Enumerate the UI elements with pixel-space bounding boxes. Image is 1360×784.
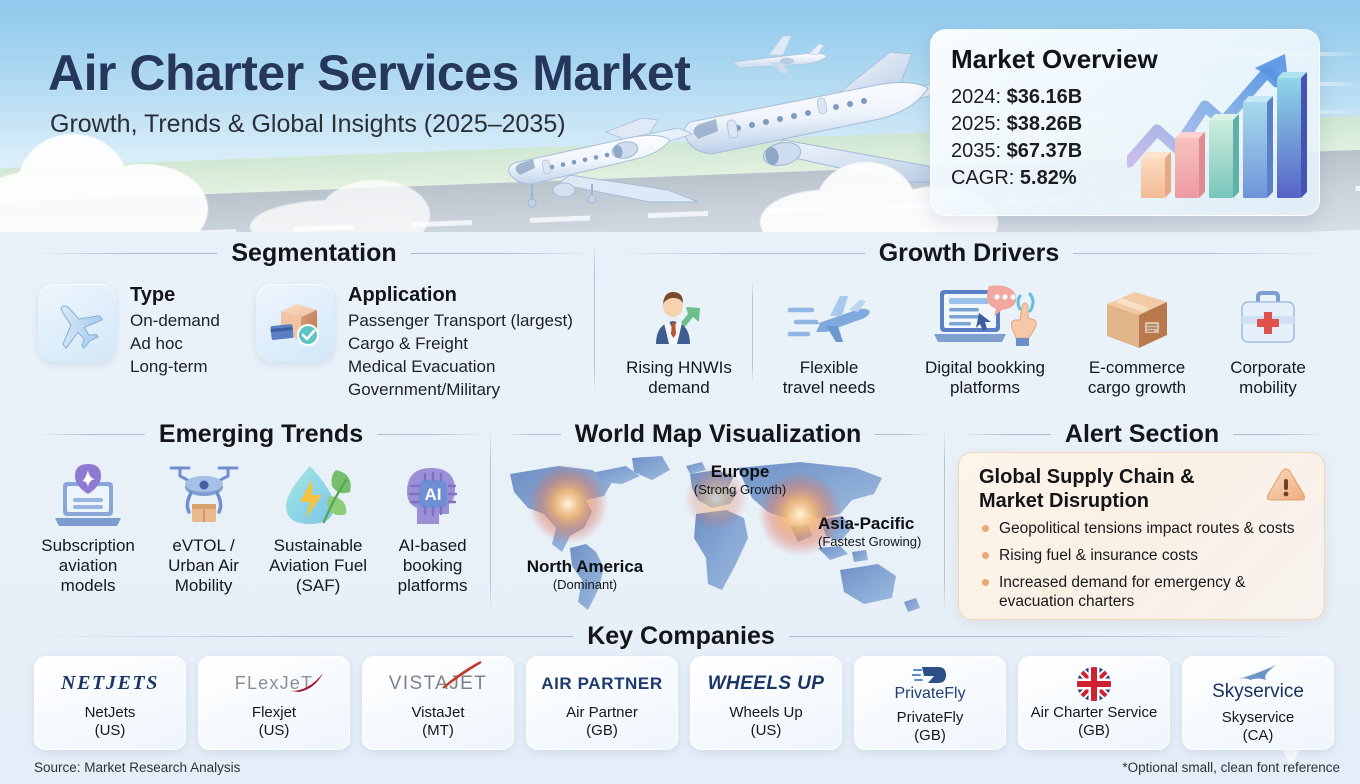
skyservice-logo: Skyservice [1212, 662, 1304, 706]
caption-line: Digital bookking [925, 358, 1045, 377]
alert-bullet-list: Geopolitical tensions impact routes & co… [979, 519, 1309, 619]
list-item: Medical Evacuation [348, 355, 573, 378]
caption-line: models [61, 576, 116, 595]
market-overview-rows: 2024: $36.16B 2025: $38.26B 2035: $67.37… [951, 84, 1082, 192]
growth-driver-caption: Digital bookking platforms [925, 358, 1045, 398]
caption-line: Sustainable [274, 536, 363, 555]
company-card-air-charter-service[interactable]: Air Charter Service (GB) [1018, 656, 1170, 750]
company-country: (US) [95, 722, 126, 740]
section-header-growth-drivers: Growth Drivers [612, 239, 1326, 268]
company-card-privatefly[interactable]: PrivateFly PrivateFly (GB) [854, 656, 1006, 750]
region-note: (Strong Growth) [650, 482, 830, 497]
caption-line: aviation [59, 556, 118, 575]
caption-line: Urban Air [168, 556, 239, 575]
uk-flag-icon [1076, 667, 1112, 701]
caption-line: demand [648, 378, 709, 397]
market-overview-row: 2024: $36.16B [951, 84, 1082, 111]
company-name: PrivateFly [897, 709, 964, 727]
caption-line: platforms [398, 576, 468, 595]
company-name: NetJets [85, 704, 136, 722]
list-item: Passenger Transport (largest) [348, 309, 573, 332]
list-item: Ad hoc [130, 332, 220, 355]
alert-bullet: Geopolitical tensions impact routes & co… [979, 519, 1309, 538]
alert-bullet: Increased demand for emergency & evacuat… [979, 573, 1309, 611]
alert-card: Global Supply Chain & Market Disruption … [958, 452, 1325, 620]
row-label: 2024: [951, 86, 1001, 108]
section-header-segmentation: Segmentation [34, 239, 594, 268]
company-card-air-partner[interactable]: AIR PARTNER Air Partner (GB) [526, 656, 678, 750]
list-item: Government/Military [348, 378, 573, 401]
segmentation-heading: Type [130, 284, 220, 307]
divider-line [958, 434, 1051, 435]
growth-drivers-row: Rising HNWIs demand [606, 280, 1326, 398]
divider-line [36, 434, 145, 435]
flexjet-swoosh-icon [289, 671, 325, 693]
emerging-trend-caption: Subscription aviation models [41, 536, 135, 596]
package-card-check-icon [256, 284, 334, 362]
divider-line [1073, 253, 1326, 254]
row-label: 2025: [951, 113, 1001, 135]
divider-line [1233, 434, 1326, 435]
page-title: Air Charter Services Market [48, 44, 690, 102]
company-country: (MT) [422, 722, 454, 740]
caption-line: booking [403, 556, 463, 575]
skyservice-bird-icon [1236, 665, 1280, 681]
section-title: World Map Visualization [575, 420, 862, 449]
airplane-icon [38, 284, 116, 362]
caption-line: (SAF) [296, 576, 340, 595]
caption-line: eVTOL / [172, 536, 234, 555]
map-label-north-america: North America (Dominant) [495, 557, 675, 592]
company-name: Skyservice [1222, 709, 1295, 727]
logo-text: Skyservice [1212, 681, 1304, 703]
region-name: Europe [650, 462, 830, 482]
company-card-vistajet[interactable]: VISTAJET VistaJet (MT) [362, 656, 514, 750]
divider-line [34, 253, 217, 254]
emerging-trend-item: Subscription aviation models [28, 458, 148, 596]
company-country: (US) [259, 722, 290, 740]
growth-driver-item: Flexible travel needs [752, 280, 906, 398]
flexjet-logo: FLexJeT [235, 667, 313, 701]
company-country: (GB) [914, 727, 946, 745]
company-country: (US) [751, 722, 782, 740]
caption-line: travel needs [783, 378, 876, 397]
company-country: (GB) [1078, 722, 1110, 740]
company-card-flexjet[interactable]: FLexJeT Flexjet (US) [198, 656, 350, 750]
segmentation-list: On-demand Ad hoc Long-term [130, 309, 220, 378]
growth-driver-caption: Rising HNWIs demand [626, 358, 732, 398]
netjets-logo: NETJETS [61, 667, 159, 701]
alert-heading-line2: Market Disruption [979, 490, 1149, 512]
laptop-subscription-icon [51, 458, 125, 530]
list-item: Cargo & Freight [348, 332, 573, 355]
laptop-booking-icon [932, 280, 1038, 352]
row-label: 2035: [951, 140, 1001, 162]
company-name: Wheels Up [729, 704, 802, 722]
caption-line: AI-based [399, 536, 467, 555]
fast-plane-icon [786, 280, 872, 352]
caption-line: cargo growth [1088, 378, 1186, 397]
growth-driver-item: Digital bookking platforms [906, 280, 1064, 398]
warning-triangle-icon [1266, 467, 1306, 503]
cardboard-box-icon [1101, 280, 1173, 352]
row-label: CAGR: [951, 167, 1014, 189]
company-country: (CA) [1243, 727, 1274, 745]
row-value: 5.82% [1020, 167, 1077, 189]
segmentation-group-type: Type On-demand Ad hoc Long-term [38, 284, 220, 378]
market-overview-row: CAGR: 5.82% [951, 165, 1082, 192]
privatefly-wing-icon [912, 665, 948, 685]
alert-bullet: Rising fuel & insurance costs [979, 546, 1309, 565]
logo-text: PrivateFly [894, 685, 965, 703]
emerging-trend-item: AI AI-based booking platforms [377, 458, 488, 596]
section-header-emerging-trends: Emerging Trends [36, 420, 486, 449]
key-companies-row: NETJETS NetJets (US) FLexJeT Flexjet (US… [34, 656, 1334, 750]
growth-driver-item: Corporate mobility [1210, 280, 1326, 398]
infographic-page: Air Charter Services Market Growth, Tren… [0, 0, 1360, 784]
alert-heading-line1: Global Supply Chain & [979, 466, 1195, 488]
row-value: $67.37B [1007, 140, 1083, 162]
section-title: Growth Drivers [879, 239, 1060, 268]
section-header-world-map: World Map Visualization [506, 420, 930, 449]
caption-line: Rising HNWIs [626, 358, 732, 377]
row-value: $38.26B [1007, 113, 1083, 135]
region-note: (Dominant) [495, 577, 675, 592]
section-title: Segmentation [231, 239, 396, 268]
region-name: North America [495, 557, 675, 577]
section-title: Emerging Trends [159, 420, 363, 449]
emerging-trend-item: eVTOL / Urban Air Mobility [148, 458, 259, 596]
caption-line: Flexible [800, 358, 859, 377]
emerging-trend-item: Sustainable Aviation Fuel (SAF) [259, 458, 377, 596]
segmentation-heading: Application [348, 284, 573, 307]
divider-line [506, 434, 561, 435]
logo-text: AIR PARTNER [541, 674, 663, 694]
company-card-wheels-up[interactable]: WHEELS UP Wheels Up (US) [690, 656, 842, 750]
company-name: Air Charter Service [1031, 704, 1158, 722]
list-item: On-demand [130, 309, 220, 332]
company-name: Air Partner [566, 704, 638, 722]
market-overview-card: Market Overview 2024: $36.16B 2025: $38.… [930, 29, 1320, 216]
airpartner-logo: AIR PARTNER [541, 667, 663, 701]
privatefly-logo: PrivateFly [894, 662, 965, 706]
medical-briefcase-icon [1236, 280, 1300, 352]
caption-line: platforms [950, 378, 1020, 397]
section-title: Alert Section [1065, 420, 1219, 449]
divider-line [411, 253, 594, 254]
segmentation-type-text: Type On-demand Ad hoc Long-term [130, 284, 220, 378]
vertical-divider [490, 428, 491, 614]
emerging-trend-caption: AI-based booking platforms [398, 536, 468, 596]
divider-line [377, 434, 486, 435]
divider-line [875, 434, 930, 435]
growth-driver-item: E-commerce cargo growth [1064, 280, 1210, 398]
section-title: Key Companies [587, 622, 775, 651]
divider-line [612, 253, 865, 254]
growth-driver-caption: Flexible travel needs [783, 358, 876, 398]
divider-line [36, 636, 573, 637]
caption-line: E-commerce [1089, 358, 1185, 377]
ai-head-chip-icon: AI [397, 458, 469, 530]
map-label-europe: Europe (Strong Growth) [650, 462, 830, 497]
market-overview-row: 2035: $67.37B [951, 138, 1082, 165]
caption-line: Corporate [1230, 358, 1306, 377]
company-country: (GB) [586, 722, 618, 740]
logo-text: NETJETS [61, 672, 159, 695]
section-header-key-companies: Key Companies [36, 622, 1326, 651]
company-name: Flexjet [252, 704, 296, 722]
svg-text:AI: AI [424, 485, 441, 504]
growth-bar-chart-graphic [1127, 46, 1307, 206]
company-name: VistaJet [411, 704, 464, 722]
vistajet-logo: VISTAJET [389, 667, 487, 701]
caption-line: Aviation Fuel [269, 556, 367, 575]
segmentation-list: Passenger Transport (largest) Cargo & Fr… [348, 309, 573, 401]
font-reference-footnote: *Optional small, clean font reference [1122, 760, 1340, 775]
caption-line: mobility [1239, 378, 1297, 397]
green-fuel-drop-icon [280, 458, 356, 530]
wheelsup-logo: WHEELS UP [708, 667, 825, 701]
alert-heading: Global Supply Chain & Market Disruption [979, 465, 1229, 513]
row-value: $36.16B [1007, 86, 1083, 108]
businessman-growth-icon [644, 280, 714, 352]
section-header-alert: Alert Section [958, 420, 1326, 449]
vertical-divider [594, 245, 595, 393]
logo-text: WHEELS UP [708, 673, 825, 695]
market-overview-row: 2025: $38.26B [951, 111, 1082, 138]
source-footnote: Source: Market Research Analysis [34, 760, 240, 775]
world-map: North America (Dominant) Europe (Strong … [500, 452, 930, 622]
vistajet-swoosh-icon [437, 661, 483, 691]
caption-line: Mobility [175, 576, 233, 595]
growth-driver-caption: Corporate mobility [1230, 358, 1306, 398]
growth-driver-caption: E-commerce cargo growth [1088, 358, 1186, 398]
page-subtitle: Growth, Trends & Global Insights (2025–2… [50, 110, 566, 139]
list-item: Long-term [130, 355, 220, 378]
emerging-trends-row: Subscription aviation models [28, 458, 488, 596]
segmentation-group-application: Application Passenger Transport (largest… [256, 284, 573, 401]
divider-line [789, 636, 1326, 637]
growth-driver-item: Rising HNWIs demand [606, 280, 752, 398]
segmentation-application-text: Application Passenger Transport (largest… [348, 284, 573, 401]
emerging-trend-caption: eVTOL / Urban Air Mobility [168, 536, 239, 596]
caption-line: Subscription [41, 536, 135, 555]
company-card-skyservice[interactable]: Skyservice Skyservice (CA) [1182, 656, 1334, 750]
drone-delivery-icon [163, 458, 245, 530]
company-card-netjets[interactable]: NETJETS NetJets (US) [34, 656, 186, 750]
emerging-trend-caption: Sustainable Aviation Fuel (SAF) [269, 536, 367, 596]
